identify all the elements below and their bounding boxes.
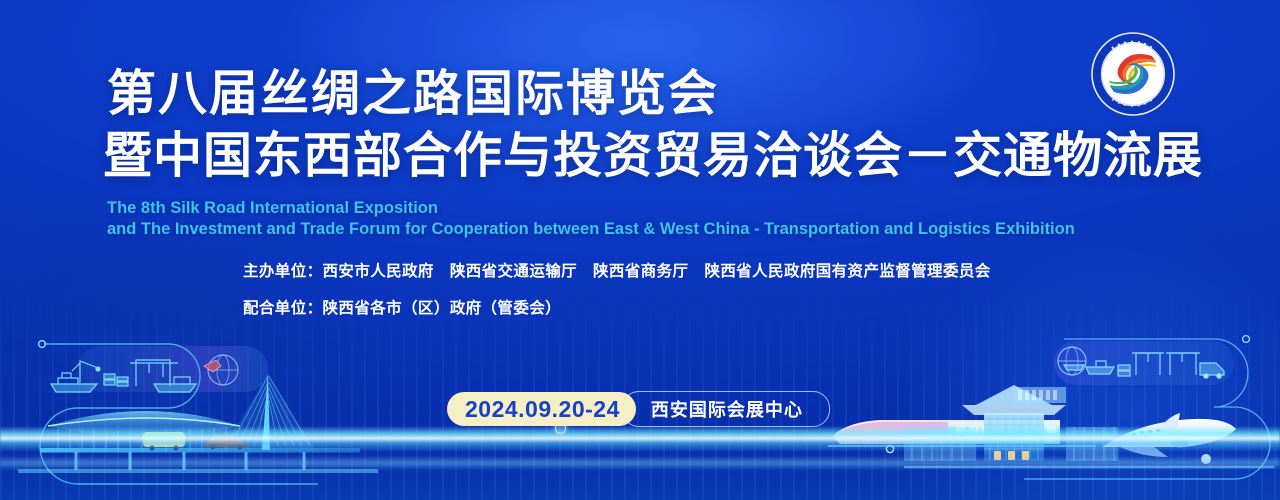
event-info-bar: 2024.09.20-24 西安国际会展中心	[447, 392, 830, 426]
organizers-block: 主办单位：西安市人民政府陕西省交通运输厅陕西省商务厅陕西省人民政府国有资产监督管…	[243, 263, 991, 317]
right-illustration	[904, 327, 1274, 492]
page-title-en-line1: The 8th Silk Road International Expositi…	[107, 198, 1187, 219]
host-organizers-line: 主办单位：西安市人民政府陕西省交通运输厅陕西省商务厅陕西省人民政府国有资产监督管…	[243, 263, 991, 280]
host-item-1: 陕西省交通运输厅	[450, 263, 577, 280]
bus-icon	[143, 432, 185, 451]
guide-line-node	[1243, 336, 1250, 343]
host-item-0: 西安市人民政府	[323, 263, 434, 280]
page-title-cn-line2: 暨中国东西部合作与投资贸易洽谈会－交通物流展	[103, 128, 1187, 184]
event-venue-label: 西安国际会展中心	[651, 396, 803, 422]
left-illustration	[18, 330, 378, 490]
support-label: 配合单位：	[243, 300, 323, 317]
railway-station-icon	[962, 385, 1066, 461]
page-title-en-line2: and The Investment and Trade Forum for C…	[107, 219, 1187, 240]
support-organizers-line: 配合单位：陕西省各市（区）政府（管委会）	[243, 300, 991, 317]
event-venue-badge: 西安国际会展中心	[622, 391, 830, 427]
road-pillars	[76, 452, 304, 470]
host-item-2: 陕西省商务厅	[593, 263, 688, 280]
host-item-3: 陕西省人民政府国有资产监督管理委员会	[704, 263, 990, 280]
event-date-badge: 2024.09.20-24	[447, 392, 636, 426]
silk-road-expo-logo	[1090, 31, 1176, 117]
title-block: 第八届丝绸之路国际博览会 暨中国东西部合作与投资贸易洽谈会－交通物流展 The …	[107, 66, 1187, 240]
logo-swirl	[1102, 43, 1164, 105]
support-item-0: 陕西省各市（区）政府（管委会）	[323, 300, 562, 317]
expo-banner: 第八届丝绸之路国际博览会 暨中国东西部合作与投资贸易洽谈会－交通物流展 The …	[0, 0, 1280, 500]
host-label: 主办单位：	[243, 263, 323, 280]
road-deck	[40, 448, 360, 453]
airplane-icon	[1102, 413, 1236, 464]
page-title-cn-line1: 第八届丝绸之路国际博览会	[107, 66, 1187, 122]
